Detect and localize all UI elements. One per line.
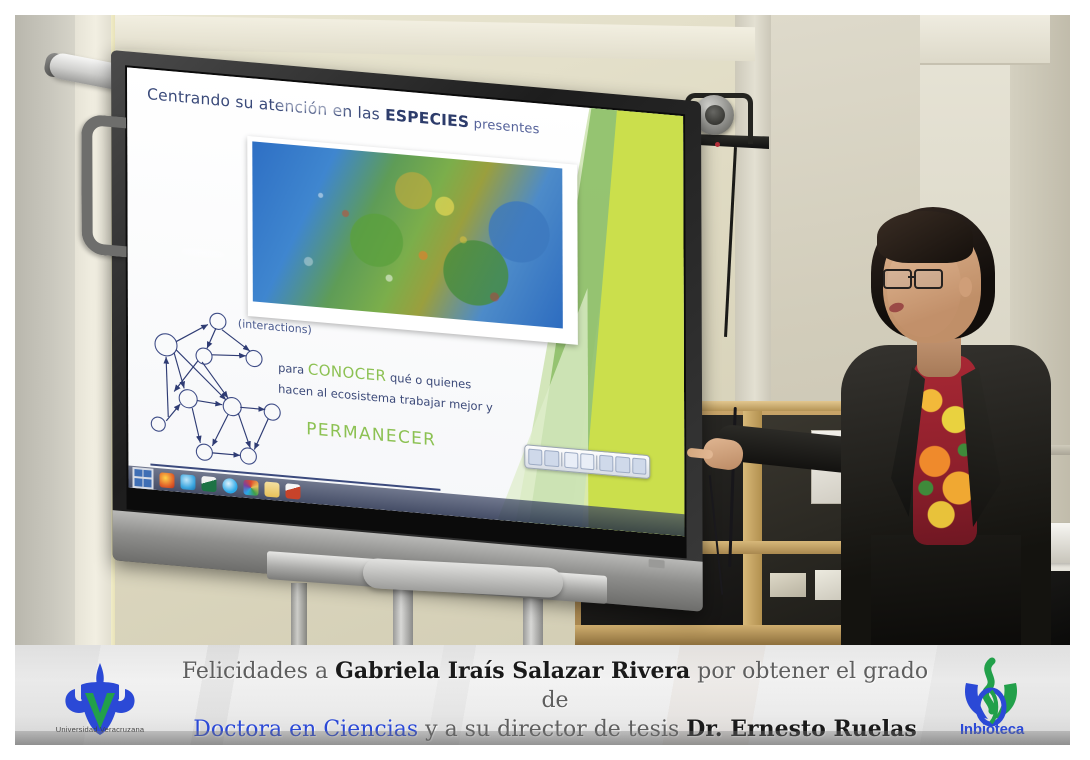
excel-icon[interactable] bbox=[201, 475, 216, 491]
highlighter-tool-icon[interactable] bbox=[580, 453, 594, 470]
stand-leg-left bbox=[291, 583, 307, 645]
skype-icon[interactable] bbox=[222, 477, 237, 493]
toolbar-divider bbox=[561, 452, 562, 466]
firefox-icon[interactable] bbox=[159, 472, 174, 488]
slide-body-post: qué o quienes bbox=[386, 370, 471, 391]
window-blind-box bbox=[920, 15, 1050, 65]
caption-banner: Universidad Veracruzana Felicidades a Ga… bbox=[15, 645, 1070, 745]
display-side-handle[interactable] bbox=[81, 113, 126, 257]
presenter-skirt bbox=[871, 535, 1021, 645]
eraser-tool-icon[interactable] bbox=[616, 456, 630, 473]
select-tool-icon[interactable] bbox=[528, 449, 542, 466]
wall-column bbox=[75, 15, 113, 645]
file-explorer-icon[interactable] bbox=[264, 481, 279, 497]
pan-tool-icon[interactable] bbox=[545, 450, 559, 467]
photograph: Centrando su atención en las ESPECIES pr… bbox=[15, 15, 1070, 645]
powerpoint-icon[interactable] bbox=[285, 483, 300, 499]
eyeglasses-icon bbox=[883, 269, 945, 286]
poster-image: Centrando su atención en las ESPECIES pr… bbox=[0, 0, 1090, 760]
presenter-ear bbox=[959, 277, 972, 297]
graduate-name: Gabriela Iraís Salazar Rivera bbox=[335, 658, 690, 684]
interactive-smart-board[interactable]: Centrando su atención en las ESPECIES pr… bbox=[111, 50, 703, 612]
caption-line1-pre: Felicidades a bbox=[182, 659, 335, 684]
slide-body-highlight: CONOCER bbox=[308, 360, 387, 385]
biodiversity-map-image bbox=[252, 141, 563, 328]
shapes-tool-icon[interactable] bbox=[599, 455, 613, 472]
caption-bottom-shadow bbox=[15, 731, 1070, 745]
internet-explorer-icon[interactable] bbox=[180, 474, 195, 490]
camera-lens-icon bbox=[705, 105, 725, 125]
wall-left bbox=[15, 15, 75, 645]
start-button-icon[interactable] bbox=[132, 466, 153, 489]
camera-status-led-icon bbox=[715, 142, 720, 147]
pen-tool-icon[interactable] bbox=[564, 452, 578, 469]
slide-body-pre: para bbox=[278, 361, 308, 378]
presenter-hair-fringe bbox=[877, 211, 973, 263]
caption-line-1: Felicidades a Gabriela Iraís Salazar Riv… bbox=[165, 657, 945, 715]
photo-viewer-icon[interactable] bbox=[243, 479, 258, 495]
small-box bbox=[770, 573, 806, 597]
projected-slide[interactable]: Centrando su atención en las ESPECIES pr… bbox=[127, 67, 684, 536]
display-brand-logo bbox=[649, 559, 665, 568]
toolbar-divider-2 bbox=[596, 455, 597, 469]
close-tool-icon[interactable] bbox=[632, 458, 646, 475]
